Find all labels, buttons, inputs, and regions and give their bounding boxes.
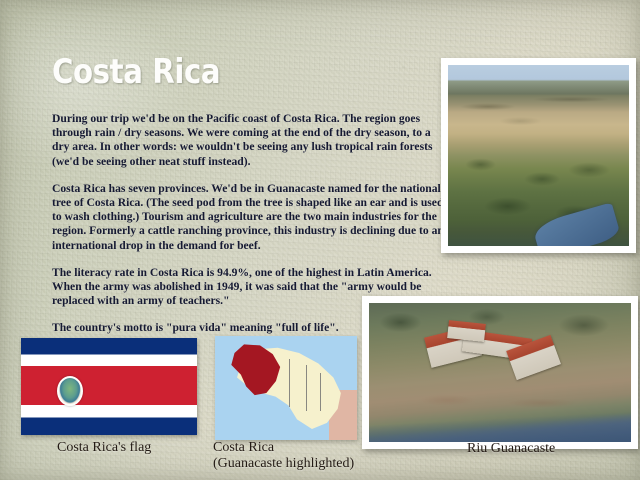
landscape-artwork — [448, 65, 629, 246]
caption-map: Costa Rica (Guanacaste highlighted) — [213, 440, 354, 472]
body-paragraph-1: During our trip we'd be on the Pacific c… — [52, 112, 448, 169]
photo-inner — [448, 65, 629, 246]
caption-map-line-1: Costa Rica — [213, 440, 354, 456]
costa-rica-flag — [21, 338, 197, 435]
photo-inner — [369, 303, 631, 442]
costa-rica-province-map — [215, 336, 357, 440]
resort-artwork — [369, 303, 631, 442]
caption-map-line-2: (Guanacaste highlighted) — [213, 456, 354, 472]
page-title: Costa Rica — [52, 55, 220, 89]
caption-flag: Costa Rica's flag — [57, 440, 151, 456]
province-border — [320, 373, 321, 410]
slide-canvas: Costa Rica During our trip we'd be on th… — [0, 0, 640, 480]
body-paragraph-2: Costa Rica has seven provinces. We'd be … — [52, 182, 448, 253]
coat-of-arms-icon — [57, 376, 83, 406]
province-border — [289, 359, 290, 407]
aerial-dry-plains-photo — [441, 58, 636, 253]
caption-resort: Riu Guanacaste — [467, 441, 555, 457]
aerial-resort-photo — [362, 296, 638, 449]
province-border — [306, 365, 307, 411]
